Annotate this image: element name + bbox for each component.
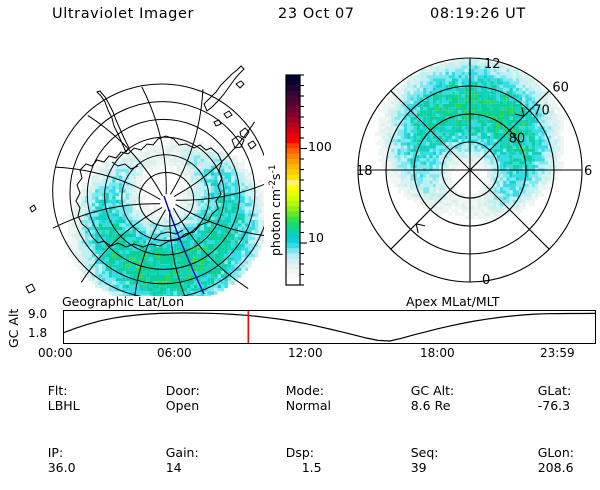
footer-glon: GLon: 208.6 — [498, 428, 574, 490]
observation-date: 23 Oct 07 — [278, 6, 355, 22]
footer-mode-value: Normal — [286, 398, 331, 413]
orbit-x-tick-3: 18:00 — [420, 346, 455, 360]
apex-panel: 126018607080 — [344, 44, 596, 296]
instrument-title: Ultraviolet Imager — [52, 6, 194, 22]
footer-ip: IP: 36.0 — [8, 428, 126, 490]
colorbar-label-mid: s — [268, 174, 283, 181]
footer-gcalt-label: GC Alt: — [411, 383, 455, 398]
footer-glon-label: GLon: — [538, 445, 574, 460]
footer-gain: Gain: 14 — [126, 428, 246, 490]
footer-glat-label: GLat: — [538, 383, 571, 398]
orbit-x-tick-4: 23:59 — [540, 346, 575, 360]
footer-gcalt-value: 8.6 Re — [411, 398, 451, 413]
colorbar: photon cm-2s-1 100 10 — [262, 60, 342, 295]
colorbar-label-main: photon cm — [268, 189, 283, 256]
orbit-y-axis-title: GC Alt — [6, 309, 21, 348]
geographic-caption: Geographic Lat/Lon — [62, 294, 184, 309]
footer-dsp-value: 1.5 — [286, 460, 322, 475]
status-footer: Flt: LBHL Door: Open Mode: Normal GC Alt… — [8, 368, 574, 490]
footer-gain-label: Gain: — [166, 445, 199, 460]
footer-dsp: Dsp: 1.5 — [246, 428, 371, 490]
footer-gain-value: 14 — [166, 460, 182, 475]
footer-seq-value: 39 — [411, 460, 427, 475]
colorbar-tick-label-100: 100 — [308, 139, 332, 154]
colorbar-gradient — [286, 75, 300, 285]
mlt-label-12: 12 — [484, 57, 501, 72]
mlt-label-6: 6 — [584, 164, 592, 179]
geographic-image — [8, 44, 264, 296]
mlt-label-18: 18 — [356, 164, 373, 179]
mlat-label-70: 70 — [533, 104, 550, 119]
colorbar-axis-label: photon cm-2s-1 — [268, 165, 283, 256]
uvi-display: Ultraviolet Imager 23 Oct 07 08:19:26 UT… — [0, 0, 600, 400]
footer-mode-label: Mode: — [286, 383, 324, 398]
orbit-x-tick-1: 06:00 — [157, 346, 192, 360]
mlat-label-80: 80 — [509, 132, 526, 147]
footer-flt-label: Flt: — [48, 383, 68, 398]
orbit-altitude-plot — [63, 310, 596, 344]
colorbar-tick-label-10: 10 — [308, 230, 324, 245]
apex-image: 126018607080 — [344, 44, 596, 296]
observation-time: 08:19:26 UT — [430, 6, 526, 22]
footer-flt-value: LBHL — [48, 398, 80, 413]
orbit-y-tick-min: 1.8 — [28, 326, 47, 340]
orbit-y-tick-max: 9.0 — [28, 307, 47, 321]
footer-seq-label: Seq: — [411, 445, 439, 460]
footer-mode: Mode: Normal — [246, 368, 371, 428]
mlat-label-60: 60 — [552, 81, 569, 96]
footer-glat: GLat: -76.3 — [498, 368, 574, 428]
footer-door-value: Open — [166, 398, 199, 413]
footer-ip-value: 36.0 — [48, 460, 76, 475]
footer-gcalt: GC Alt: 8.6 Re — [371, 368, 498, 428]
colorbar-ticks — [300, 75, 307, 285]
footer-flt: Flt: LBHL — [8, 368, 126, 428]
colorbar-label-exp1: -2 — [268, 180, 278, 189]
geographic-panel — [8, 44, 264, 296]
apex-caption: Apex MLat/MLT — [406, 294, 500, 309]
footer-dsp-label: Dsp: — [286, 445, 314, 460]
footer-glon-value: 208.6 — [538, 460, 574, 475]
footer-door-label: Door: — [166, 383, 200, 398]
mlt-label-0: 0 — [482, 273, 490, 288]
orbit-x-tick-2: 12:00 — [288, 346, 323, 360]
footer-seq: Seq: 39 — [371, 428, 498, 490]
mlat-mlt-graticule — [358, 58, 582, 282]
footer-glat-value: -76.3 — [538, 398, 570, 413]
orbit-x-tick-0: 00:00 — [38, 346, 73, 360]
colorbar-label-exp2: -1 — [268, 165, 278, 174]
footer-ip-label: IP: — [48, 445, 63, 460]
footer-door: Door: Open — [126, 368, 246, 428]
